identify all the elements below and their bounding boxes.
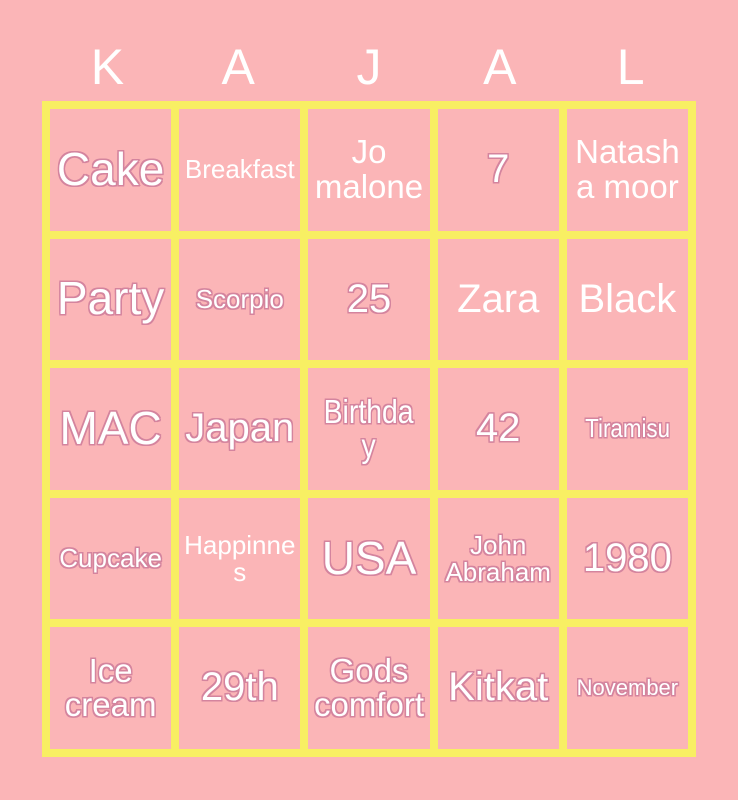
bingo-cell-label: Tiramisu [578, 415, 677, 442]
bingo-cell-label: Breakfast [182, 156, 297, 183]
bingo-cell-r1c4[interactable]: 7 [438, 109, 559, 231]
bingo-cell-label: Cupcake [53, 545, 168, 572]
bingo-cell-r4c1[interactable]: Cupcake [50, 498, 171, 620]
bingo-cell-label: MAC [53, 405, 168, 453]
bingo-cell-r1c2[interactable]: Breakfast [179, 109, 300, 231]
bingo-cell-label: Birthday [319, 395, 418, 464]
bingo-cell-r3c4[interactable]: 42 [438, 368, 559, 490]
bingo-cell-r3c5[interactable]: Tiramisu [567, 368, 688, 490]
header-letter-2: A [173, 42, 304, 92]
bingo-cell-label: Kitkat [441, 667, 556, 709]
bingo-header-row: K A J A L [42, 36, 696, 98]
bingo-cell-r5c4[interactable]: Kitkat [438, 627, 559, 749]
bingo-cell-label: Zara [441, 279, 556, 321]
bingo-cell-r3c1[interactable]: MAC [50, 368, 171, 490]
bingo-cell-label: Ice cream [53, 654, 168, 723]
bingo-cell-label: Natasha moor [570, 135, 685, 204]
bingo-cell-r5c2[interactable]: 29th [179, 627, 300, 749]
bingo-cell-r4c3[interactable]: USA [308, 498, 429, 620]
bingo-cell-r3c3[interactable]: Birthday [308, 368, 429, 490]
bingo-cell-r5c1[interactable]: Ice cream [50, 627, 171, 749]
bingo-grid: CakeBreakfastJo malone7Natasha moorParty… [42, 101, 696, 757]
bingo-cell-label: Jo malone [311, 135, 426, 204]
bingo-cell-label: Gods comfort [311, 654, 426, 723]
bingo-cell-label: Scorpio [182, 286, 297, 313]
bingo-cell-r2c3[interactable]: 25 [308, 239, 429, 361]
bingo-cell-r2c2[interactable]: Scorpio [179, 239, 300, 361]
bingo-cell-label: USA [311, 535, 426, 583]
bingo-cell-r3c2[interactable]: Japan [179, 368, 300, 490]
header-letter-5: L [565, 42, 696, 92]
bingo-cell-label: 42 [441, 408, 556, 450]
bingo-cell-label: John Abraham [441, 532, 556, 586]
bingo-cell-r1c5[interactable]: Natasha moor [567, 109, 688, 231]
bingo-cell-label: 1980 [570, 538, 685, 580]
bingo-cell-label: Happinnes [182, 532, 297, 586]
bingo-cell-r5c5[interactable]: November [567, 627, 688, 749]
bingo-cell-label: Black [570, 279, 685, 321]
bingo-cell-r4c4[interactable]: John Abraham [438, 498, 559, 620]
bingo-cell-label: 7 [441, 149, 556, 191]
header-letter-1: K [42, 42, 173, 92]
bingo-cell-label: Japan [182, 408, 297, 450]
bingo-card: K A J A L CakeBreakfastJo malone7Natasha… [0, 0, 738, 800]
bingo-cell-r1c3[interactable]: Jo malone [308, 109, 429, 231]
header-letter-4: A [434, 42, 565, 92]
bingo-cell-label: November [570, 677, 685, 700]
bingo-cell-label: Party [53, 275, 168, 323]
bingo-cell-r2c5[interactable]: Black [567, 239, 688, 361]
bingo-cell-r4c2[interactable]: Happinnes [179, 498, 300, 620]
bingo-cell-r1c1[interactable]: Cake [50, 109, 171, 231]
bingo-cell-r4c5[interactable]: 1980 [567, 498, 688, 620]
bingo-cell-label: Cake [53, 146, 168, 194]
bingo-cell-r2c4[interactable]: Zara [438, 239, 559, 361]
bingo-cell-r2c1[interactable]: Party [50, 239, 171, 361]
bingo-cell-label: 29th [182, 667, 297, 709]
bingo-cell-r5c3[interactable]: Gods comfort [308, 627, 429, 749]
header-letter-3: J [304, 42, 435, 92]
bingo-cell-label: 25 [311, 279, 426, 321]
